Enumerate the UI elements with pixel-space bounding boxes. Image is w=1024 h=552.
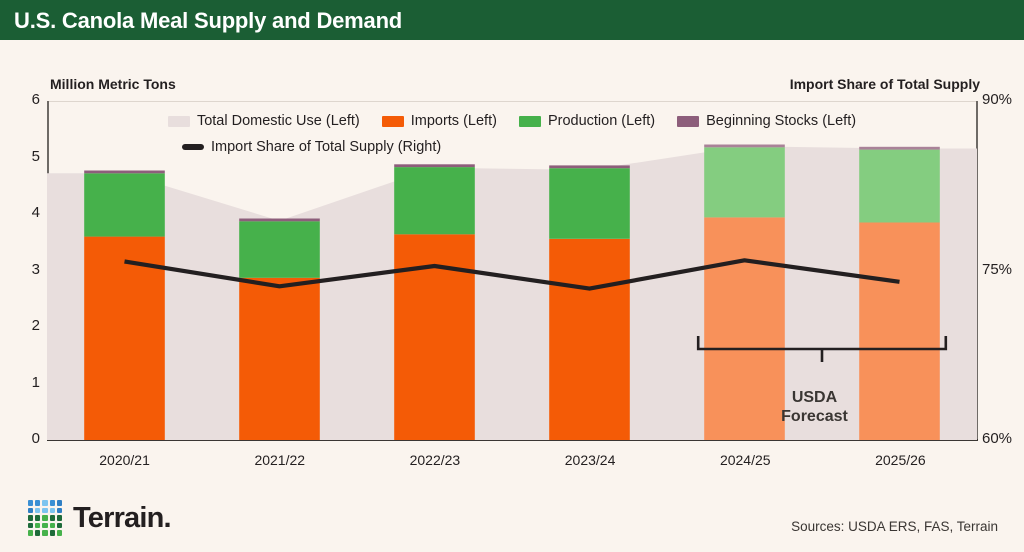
y-tick-left: 1	[6, 374, 40, 391]
page-header: U.S. Canola Meal Supply and Demand	[0, 0, 1024, 40]
logo-grid-cell	[57, 530, 62, 536]
logo-wordmark: Terrain.	[73, 502, 171, 535]
logo-grid-cell	[35, 530, 40, 536]
bar-production-2022-23[interactable]	[394, 167, 475, 234]
logo-grid-cell	[42, 508, 47, 514]
logo-grid-cell	[35, 515, 40, 521]
x-tick-2021-22: 2021/22	[220, 452, 340, 468]
annotation-line-2: Forecast	[722, 407, 907, 426]
x-tick-2022-23: 2022/23	[375, 452, 495, 468]
bar-beginning-stocks-2020-21[interactable]	[84, 171, 165, 174]
y-tick-left: 4	[6, 204, 40, 221]
logo-grid-cell	[28, 500, 33, 506]
y-tick-right: 75%	[982, 261, 1024, 278]
bar-production-2024-25[interactable]	[704, 147, 785, 217]
left-axis-caption: Million Metric Tons	[50, 76, 176, 92]
logo-grid-icon	[28, 500, 62, 536]
bar-imports-2021-22[interactable]	[239, 278, 320, 440]
logo-grid-cell	[35, 523, 40, 529]
logo-grid-cell	[35, 508, 40, 514]
logo-grid-cell	[42, 530, 47, 536]
bar-beginning-stocks-2023-24[interactable]	[549, 165, 630, 168]
bar-production-2025-26[interactable]	[859, 150, 940, 223]
x-tick-2020-21: 2020/21	[65, 452, 185, 468]
logo-grid-cell	[28, 515, 33, 521]
logo-grid-cell	[57, 523, 62, 529]
bar-beginning-stocks-2025-26[interactable]	[859, 147, 940, 150]
x-tick-2024-25: 2024/25	[685, 452, 805, 468]
logo-grid-cell	[57, 515, 62, 521]
y-tick-left: 0	[6, 430, 40, 447]
logo-grid-cell	[42, 523, 47, 529]
terrain-logo: Terrain.	[28, 500, 171, 536]
bar-production-2020-21[interactable]	[84, 173, 165, 236]
x-tick-2025-26: 2025/26	[840, 452, 960, 468]
logo-grid-cell	[42, 500, 47, 506]
logo-grid-cell	[35, 500, 40, 506]
y-tick-left: 3	[6, 261, 40, 278]
y-tick-left: 2	[6, 317, 40, 334]
logo-grid-cell	[28, 523, 33, 529]
page-title: U.S. Canola Meal Supply and Demand	[14, 8, 402, 34]
bar-beginning-stocks-2024-25[interactable]	[704, 145, 785, 148]
bar-imports-2023-24[interactable]	[549, 239, 630, 440]
y-tick-right: 90%	[982, 91, 1024, 108]
logo-grid-cell	[50, 530, 55, 536]
y-tick-left: 6	[6, 91, 40, 108]
annotation-line-1: USDA	[722, 388, 907, 407]
logo-grid-cell	[28, 530, 33, 536]
usda-forecast-annotation: USDA Forecast	[722, 388, 907, 426]
bar-production-2021-22[interactable]	[239, 221, 320, 277]
bar-production-2023-24[interactable]	[549, 168, 630, 239]
logo-grid-cell	[57, 508, 62, 514]
logo-grid-cell	[50, 500, 55, 506]
sources-note: Sources: USDA ERS, FAS, Terrain	[791, 519, 998, 534]
bar-beginning-stocks-2022-23[interactable]	[394, 164, 475, 167]
bar-beginning-stocks-2021-22[interactable]	[239, 219, 320, 222]
right-axis-caption: Import Share of Total Supply	[790, 76, 980, 92]
logo-grid-cell	[50, 515, 55, 521]
y-tick-right: 60%	[982, 430, 1024, 447]
logo-grid-cell	[50, 508, 55, 514]
x-tick-2023-24: 2023/24	[530, 452, 650, 468]
y-tick-left: 5	[6, 148, 40, 165]
logo-grid-cell	[42, 515, 47, 521]
logo-grid-cell	[57, 500, 62, 506]
logo-grid-cell	[28, 508, 33, 514]
logo-grid-cell	[50, 523, 55, 529]
